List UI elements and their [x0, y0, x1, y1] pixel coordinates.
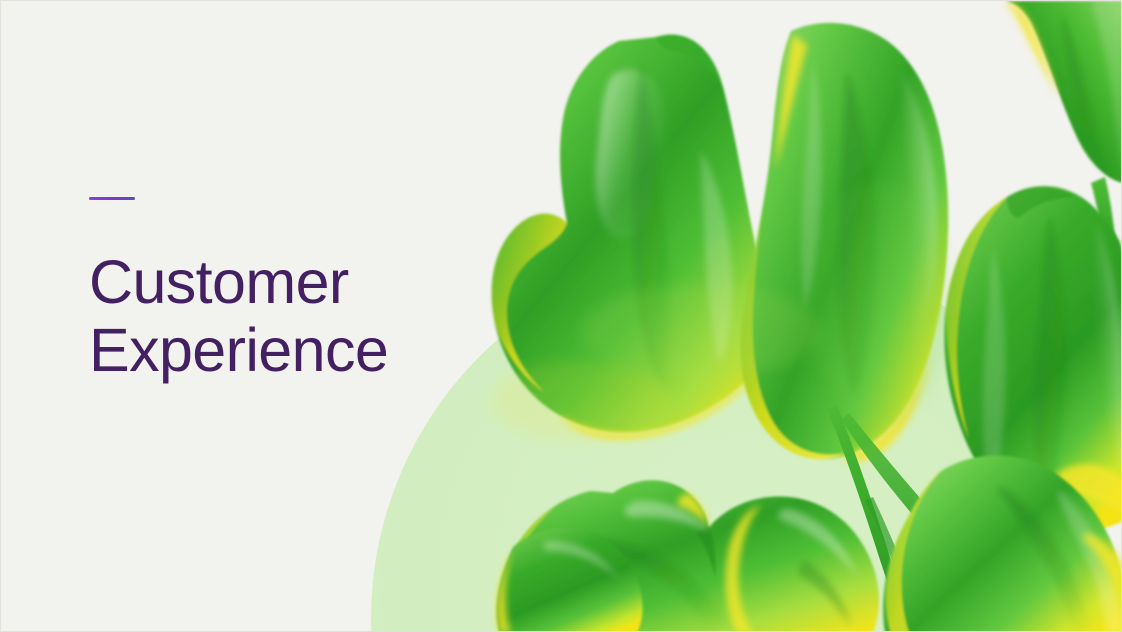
leaf-lower-left-lobe [496, 528, 642, 631]
leaf-upper-center [741, 23, 949, 461]
accent-rule [89, 197, 135, 200]
title-block: Customer Experience [89, 197, 388, 384]
leaf-upper-right [1005, 1, 1121, 293]
leaf-right-edge [944, 186, 1121, 531]
leaf-lower-right [883, 455, 1121, 631]
leaf-lower-center [502, 480, 879, 631]
page-title: Customer Experience [89, 248, 388, 384]
stem-cluster [827, 405, 1017, 631]
leaf-upper-left [492, 35, 773, 440]
pale-green-circle [371, 247, 1115, 631]
slide-canvas: Customer Experience [0, 0, 1122, 632]
art-soft-blends [491, 181, 951, 441]
